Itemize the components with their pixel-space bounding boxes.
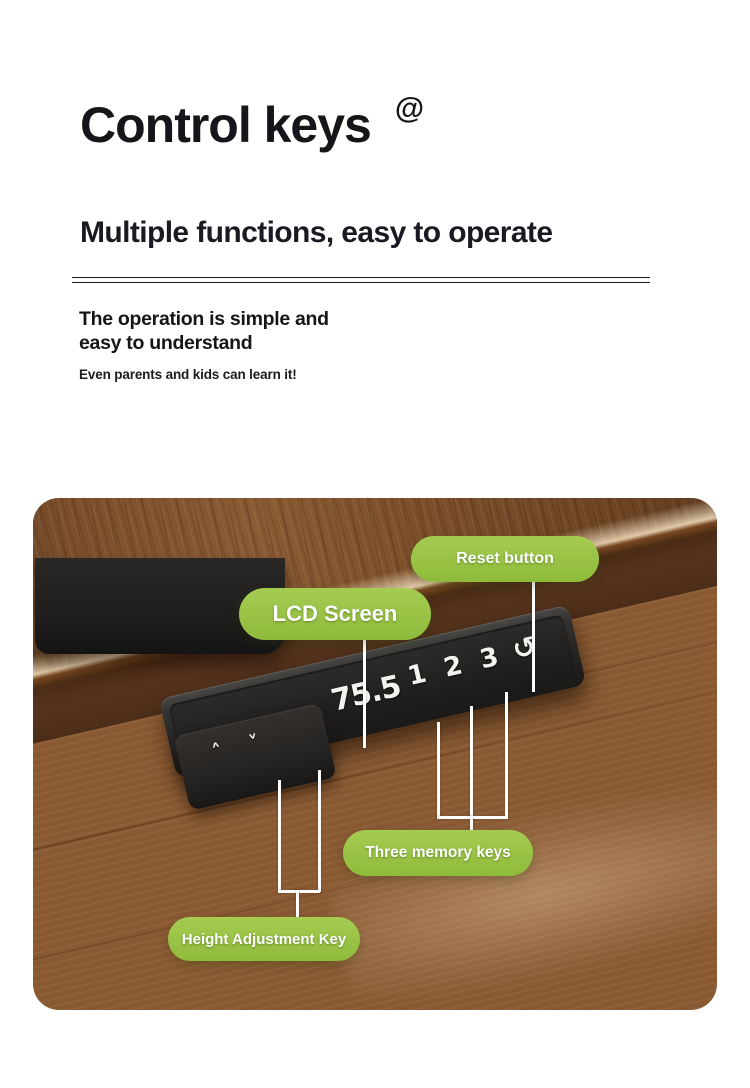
divider-rules <box>72 277 650 283</box>
at-symbol-icon: @ <box>395 94 424 124</box>
leader-stem-height <box>296 890 299 918</box>
leader-line-memory-1 <box>437 722 440 818</box>
leader-line-lcd <box>363 640 366 748</box>
callout-height-adjustment-key[interactable]: Height Adjustment Key <box>168 917 360 961</box>
kicker-text: Even parents and kids can learn it! <box>79 367 297 382</box>
lede-line-1: The operation is simple and <box>79 308 329 332</box>
lede-text: The operation is simple and easy to unde… <box>79 308 329 356</box>
page-title: Control keys <box>80 100 371 150</box>
product-photo: 75.5 1 2 3 ↺ ˄ ˅ Reset button LCD Screen… <box>33 498 717 1010</box>
leader-line-memory-3 <box>505 692 508 818</box>
leader-line-height-up <box>278 780 281 892</box>
callout-lcd-screen[interactable]: LCD Screen <box>239 588 431 640</box>
leader-line-height-down <box>318 770 321 892</box>
divider-line-top <box>72 277 650 278</box>
divider-line-bottom <box>72 282 650 283</box>
leader-bracket-memory <box>437 816 508 819</box>
title-row: Control keys @ <box>80 100 424 150</box>
leader-line-memory-2 <box>470 706 473 818</box>
lede-line-2: easy to understand <box>79 332 329 356</box>
page-subtitle: Multiple functions, easy to operate <box>80 216 552 249</box>
callout-three-memory-keys[interactable]: Three memory keys <box>343 830 533 876</box>
leader-line-reset <box>532 582 535 692</box>
callout-reset-button[interactable]: Reset button <box>411 536 599 582</box>
leader-bracket-height <box>278 890 320 893</box>
